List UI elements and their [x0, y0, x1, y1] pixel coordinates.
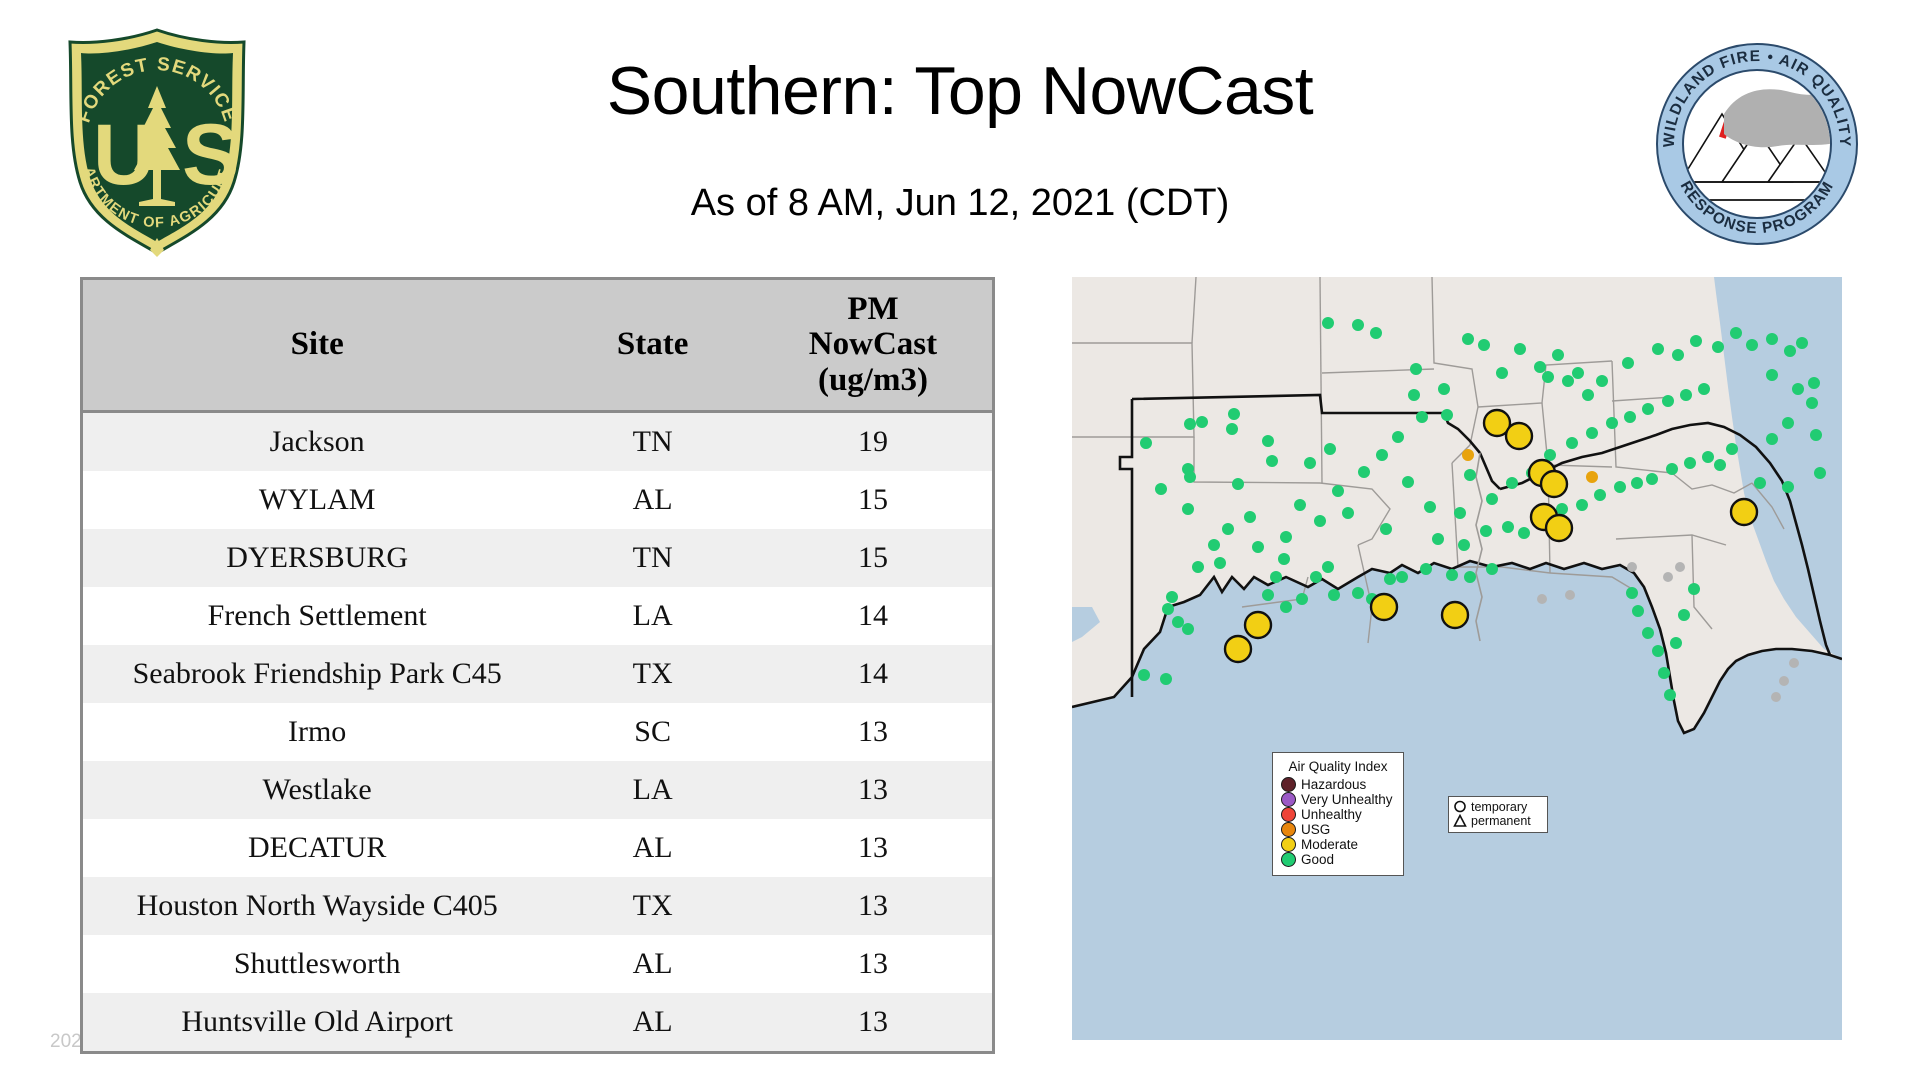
cell-pm-nowcast: 15: [754, 529, 992, 587]
column-header-pm-line1: PM: [758, 292, 988, 328]
aqi-legend-label: Unhealthy: [1301, 808, 1362, 822]
table-row[interactable]: ShuttlesworthAL13: [83, 935, 992, 993]
aqi-legend-title: Air Quality Index: [1281, 759, 1395, 774]
aqi-legend-color-dot: [1281, 822, 1296, 837]
aqi-legend-label: Very Unhealthy: [1301, 793, 1393, 807]
cell-site: DYERSBURG: [83, 529, 551, 587]
column-header-pm-nowcast[interactable]: PM NowCast (ug/m3): [754, 280, 992, 412]
cell-site: Westlake: [83, 761, 551, 819]
aqi-legend-item: USG: [1281, 822, 1395, 837]
cell-pm-nowcast: 13: [754, 993, 992, 1051]
cell-state: TN: [551, 529, 754, 587]
aqi-legend-item: Moderate: [1281, 837, 1395, 852]
temporary-circle-icon: [1453, 800, 1467, 814]
cell-state: TX: [551, 645, 754, 703]
page-subtitle: As of 8 AM, Jun 12, 2021 (CDT): [0, 182, 1920, 225]
column-header-pm-line3: (ug/m3): [758, 363, 988, 399]
cell-state: SC: [551, 703, 754, 761]
column-header-site[interactable]: Site: [83, 280, 551, 412]
cell-site: Jackson: [83, 412, 551, 472]
cell-state: LA: [551, 587, 754, 645]
table-row[interactable]: JacksonTN19: [83, 412, 992, 472]
aqi-legend-color-dot: [1281, 792, 1296, 807]
aqi-legend-label: Hazardous: [1301, 778, 1366, 792]
cell-site: DECATUR: [83, 819, 551, 877]
cell-site: Shuttlesworth: [83, 935, 551, 993]
table-row[interactable]: Houston North Wayside C405TX13: [83, 877, 992, 935]
cell-pm-nowcast: 13: [754, 703, 992, 761]
cell-site: WYLAM: [83, 471, 551, 529]
map-canvas[interactable]: [1072, 277, 1842, 1040]
aqi-legend: Air Quality Index HazardousVery Unhealth…: [1272, 752, 1404, 876]
site-type-temporary: temporary: [1453, 800, 1542, 814]
cell-state: LA: [551, 761, 754, 819]
aqi-legend-color-dot: [1281, 777, 1296, 792]
table-body: JacksonTN19WYLAMAL15DYERSBURGTN15French …: [83, 412, 992, 1052]
aqi-legend-label: Good: [1301, 853, 1334, 867]
cell-pm-nowcast: 14: [754, 587, 992, 645]
cell-state: AL: [551, 819, 754, 877]
aqi-legend-item: Unhealthy: [1281, 807, 1395, 822]
air-quality-map[interactable]: [1072, 277, 1842, 1040]
column-header-pm-line2: NowCast: [758, 327, 988, 363]
table-header-row: Site State PM NowCast (ug/m3): [83, 280, 992, 412]
aqi-legend-rows: HazardousVery UnhealthyUnhealthyUSGModer…: [1281, 777, 1395, 867]
cell-pm-nowcast: 13: [754, 877, 992, 935]
column-header-state[interactable]: State: [551, 280, 754, 412]
cell-state: TX: [551, 877, 754, 935]
cell-pm-nowcast: 13: [754, 761, 992, 819]
table-row[interactable]: DECATURAL13: [83, 819, 992, 877]
site-type-permanent: permanent: [1453, 814, 1542, 828]
cell-pm-nowcast: 14: [754, 645, 992, 703]
cell-pm-nowcast: 15: [754, 471, 992, 529]
cell-site: Irmo: [83, 703, 551, 761]
aqi-legend-color-dot: [1281, 852, 1296, 867]
aqi-legend-item: Very Unhealthy: [1281, 792, 1395, 807]
cell-state: AL: [551, 471, 754, 529]
aqi-legend-item: Good: [1281, 852, 1395, 867]
aqi-legend-label: USG: [1301, 823, 1330, 837]
permanent-triangle-icon: [1453, 814, 1467, 828]
table-row[interactable]: Seabrook Friendship Park C45TX14: [83, 645, 992, 703]
cell-state: AL: [551, 935, 754, 993]
cell-state: AL: [551, 993, 754, 1051]
cell-pm-nowcast: 13: [754, 819, 992, 877]
site-type-permanent-label: permanent: [1471, 815, 1531, 828]
aqi-legend-item: Hazardous: [1281, 777, 1395, 792]
site-type-legend: temporary permanent: [1448, 796, 1548, 833]
table-row[interactable]: IrmoSC13: [83, 703, 992, 761]
site-type-temporary-label: temporary: [1471, 801, 1527, 814]
table-row[interactable]: French SettlementLA14: [83, 587, 992, 645]
page-title: Southern: Top NowCast: [0, 52, 1920, 130]
cell-state: TN: [551, 412, 754, 472]
aqi-legend-color-dot: [1281, 837, 1296, 852]
cell-site: Seabrook Friendship Park C45: [83, 645, 551, 703]
table-row[interactable]: DYERSBURGTN15: [83, 529, 992, 587]
nowcast-table-container: Site State PM NowCast (ug/m3) JacksonTN1…: [80, 277, 995, 1054]
table-row[interactable]: WYLAMAL15: [83, 471, 992, 529]
aqi-legend-label: Moderate: [1301, 838, 1358, 852]
nowcast-table: Site State PM NowCast (ug/m3) JacksonTN1…: [83, 280, 992, 1051]
table-header: Site State PM NowCast (ug/m3): [83, 280, 992, 412]
cell-site: French Settlement: [83, 587, 551, 645]
table-row[interactable]: Huntsville Old AirportAL13: [83, 993, 992, 1051]
aqi-legend-color-dot: [1281, 807, 1296, 822]
table-row[interactable]: WestlakeLA13: [83, 761, 992, 819]
cell-pm-nowcast: 19: [754, 412, 992, 472]
cell-site: Huntsville Old Airport: [83, 993, 551, 1051]
cell-pm-nowcast: 13: [754, 935, 992, 993]
cell-site: Houston North Wayside C405: [83, 877, 551, 935]
